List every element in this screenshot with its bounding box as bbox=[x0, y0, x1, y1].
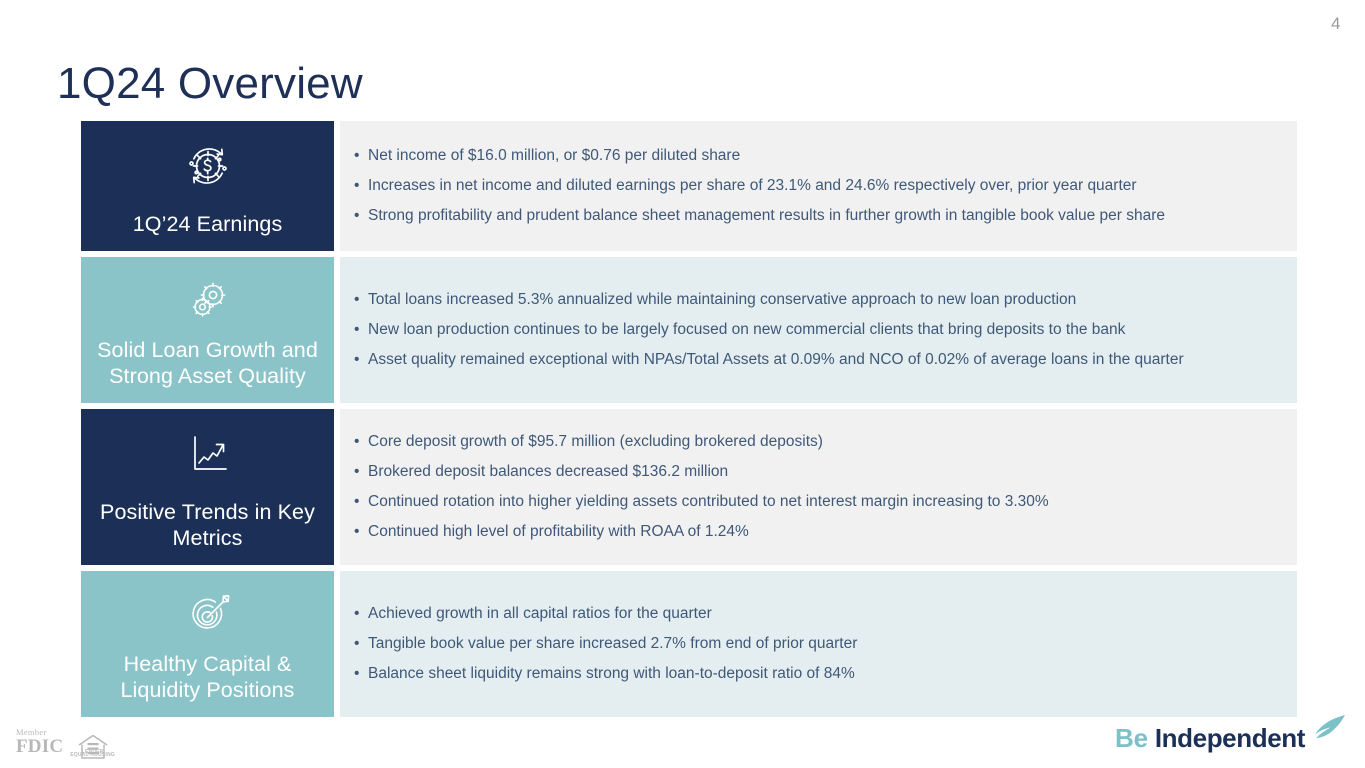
overview-rows: 1Q’24 Earnings • Net income of $16.0 mil… bbox=[81, 121, 1297, 723]
row-label-capital-liquidity[interactable]: Healthy Capital & Liquidity Positions bbox=[81, 571, 334, 717]
row-label-loan-growth[interactable]: Solid Loan Growth and Strong Asset Quali… bbox=[81, 257, 334, 403]
two-gears-icon bbox=[180, 273, 236, 331]
bullet-text: Tangible book value per share increased … bbox=[368, 633, 1279, 655]
bullet-item: • Increases in net income and diluted ea… bbox=[354, 171, 1279, 201]
row-content-earnings: • Net income of $16.0 million, or $0.76 … bbox=[340, 121, 1297, 251]
page-number: 4 bbox=[1331, 14, 1341, 34]
brand-logo-be: Be bbox=[1115, 723, 1148, 754]
bullet-item: • Core deposit growth of $95.7 million (… bbox=[354, 427, 1279, 457]
bullet-dot-icon: • bbox=[354, 461, 368, 483]
bullet-dot-icon: • bbox=[354, 663, 368, 685]
bullet-text: Strong profitability and prudent balance… bbox=[368, 205, 1279, 227]
bullet-item: • New loan production continues to be la… bbox=[354, 315, 1279, 345]
brand-logo: Be Independent bbox=[1115, 723, 1347, 754]
bullet-item: • Tangible book value per share increase… bbox=[354, 629, 1279, 659]
bullet-dot-icon: • bbox=[354, 205, 368, 227]
bullet-text: Balance sheet liquidity remains strong w… bbox=[368, 663, 1279, 685]
overview-row: Healthy Capital & Liquidity Positions • … bbox=[81, 571, 1297, 717]
bullet-text: Net income of $16.0 million, or $0.76 pe… bbox=[368, 145, 1279, 167]
bullet-dot-icon: • bbox=[354, 491, 368, 513]
bullet-item: • Brokered deposit balances decreased $1… bbox=[354, 457, 1279, 487]
ehl-text-line2: LENDER bbox=[82, 750, 104, 756]
row-label-text: Positive Trends in Key Metrics bbox=[81, 499, 334, 551]
bullet-item: • Strong profitability and prudent balan… bbox=[354, 201, 1279, 231]
row-label-text: Healthy Capital & Liquidity Positions bbox=[81, 651, 334, 703]
bullet-text: Brokered deposit balances decreased $136… bbox=[368, 461, 1279, 483]
fdic-label: FDIC bbox=[16, 737, 63, 756]
bullet-item: • Continued rotation into higher yieldin… bbox=[354, 487, 1279, 517]
bullet-dot-icon: • bbox=[354, 603, 368, 625]
bullet-dot-icon: • bbox=[354, 289, 368, 311]
bullet-dot-icon: • bbox=[354, 145, 368, 167]
bullet-dot-icon: • bbox=[354, 633, 368, 655]
bullet-item: • Net income of $16.0 million, or $0.76 … bbox=[354, 141, 1279, 171]
overview-row: Positive Trends in Key Metrics • Core de… bbox=[81, 409, 1297, 565]
bullet-dot-icon: • bbox=[354, 319, 368, 341]
bullet-item: • Continued high level of profitability … bbox=[354, 517, 1279, 547]
bullet-text: Achieved growth in all capital ratios fo… bbox=[368, 603, 1279, 625]
bullet-text: New loan production continues to be larg… bbox=[368, 319, 1279, 341]
overview-row: 1Q’24 Earnings • Net income of $16.0 mil… bbox=[81, 121, 1297, 251]
bullet-item: • Balance sheet liquidity remains strong… bbox=[354, 659, 1279, 689]
equal-housing-lender-logo: EQUAL HOUSING LENDER bbox=[70, 732, 115, 755]
bullet-item: • Total loans increased 5.3% annualized … bbox=[354, 285, 1279, 315]
row-label-earnings[interactable]: 1Q’24 Earnings bbox=[81, 121, 334, 251]
bullet-dot-icon: • bbox=[354, 521, 368, 543]
bullet-text: Continued rotation into higher yielding … bbox=[368, 491, 1279, 513]
brand-logo-independent: Independent bbox=[1155, 723, 1305, 754]
row-label-key-metrics[interactable]: Positive Trends in Key Metrics bbox=[81, 409, 334, 565]
footer-compliance-logos: Member FDIC EQUAL HOUSING LENDER bbox=[16, 728, 115, 757]
bullet-item: • Achieved growth in all capital ratios … bbox=[354, 599, 1279, 629]
bullet-text: Asset quality remained exceptional with … bbox=[368, 349, 1279, 371]
bullet-text: Core deposit growth of $95.7 million (ex… bbox=[368, 431, 1279, 453]
row-label-text: 1Q’24 Earnings bbox=[127, 211, 289, 237]
row-content-key-metrics: • Core deposit growth of $95.7 million (… bbox=[340, 409, 1297, 565]
row-content-loan-growth: • Total loans increased 5.3% annualized … bbox=[340, 257, 1297, 403]
bullet-text: Total loans increased 5.3% annualized wh… bbox=[368, 289, 1279, 311]
row-content-capital-liquidity: • Achieved growth in all capital ratios … bbox=[340, 571, 1297, 717]
target-arrow-icon bbox=[180, 587, 236, 645]
fdic-member-label: Member bbox=[16, 728, 47, 737]
overview-row: Solid Loan Growth and Strong Asset Quali… bbox=[81, 257, 1297, 403]
row-label-text: Solid Loan Growth and Strong Asset Quali… bbox=[81, 337, 334, 389]
gear-dollar-refresh-icon bbox=[180, 137, 236, 195]
page-title: 1Q24 Overview bbox=[57, 58, 363, 110]
bullet-dot-icon: • bbox=[354, 175, 368, 197]
bullet-item: • Asset quality remained exceptional wit… bbox=[354, 345, 1279, 375]
fdic-logo: Member FDIC bbox=[16, 728, 63, 757]
bird-swoosh-icon bbox=[1307, 712, 1347, 751]
bullet-dot-icon: • bbox=[354, 349, 368, 371]
bullet-text: Increases in net income and diluted earn… bbox=[368, 175, 1279, 197]
line-chart-uptrend-icon bbox=[180, 425, 236, 483]
bullet-dot-icon: • bbox=[354, 431, 368, 453]
bullet-text: Continued high level of profitability wi… bbox=[368, 521, 1279, 543]
